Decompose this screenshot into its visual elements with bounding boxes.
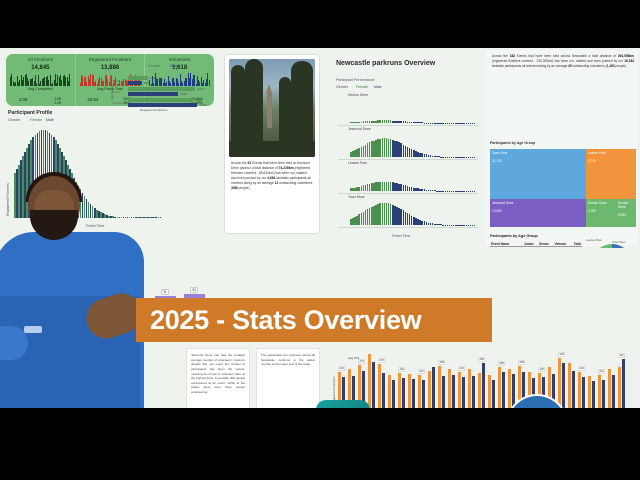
donut-name-1: Leazes Park bbox=[586, 238, 602, 242]
legend-right-female[interactable]: Female bbox=[148, 64, 160, 68]
treemap-tile-label: Denton Dene bbox=[586, 199, 616, 207]
newcastle-narrative: Across the 182 Events that have been hel… bbox=[492, 54, 634, 69]
bar-registered-finishers[interactable] bbox=[512, 374, 515, 408]
donut-label-town-moor: Town Moor bbox=[612, 240, 626, 244]
screenshot-stage: All Finishers 14,845 Avg Completed 2.09 … bbox=[0, 0, 640, 480]
age-bar-value: 845 bbox=[144, 81, 149, 85]
bar-registered-finishers[interactable] bbox=[392, 380, 395, 408]
small-multiple-label: Jesmond Dene bbox=[348, 127, 371, 131]
bar-registered-finishers[interactable] bbox=[592, 381, 595, 408]
average-line-label: Avg 273 bbox=[348, 356, 359, 360]
cap-e: people). bbox=[238, 186, 251, 190]
letterbox-bottom bbox=[0, 408, 640, 480]
small-mult-x-label: Finish Time bbox=[392, 234, 410, 238]
treemap-tile-value: 13,586 bbox=[490, 207, 586, 215]
bar-registered-finishers[interactable] bbox=[452, 375, 455, 408]
treemap-tile-value: 5,089 bbox=[616, 211, 636, 219]
age-chart-y-label: Age Group bbox=[110, 85, 114, 100]
bar-registered-finishers[interactable] bbox=[462, 377, 465, 408]
narr-e: people). bbox=[615, 64, 627, 68]
small-multiple-label: Town Moor bbox=[348, 195, 365, 199]
narr-participants: 16,182 bbox=[624, 59, 634, 63]
age-bar[interactable] bbox=[128, 98, 193, 102]
bar-value-label: 212 bbox=[598, 369, 605, 374]
bar-value-label: 232 bbox=[458, 366, 465, 371]
age-group-treemap: Town Moor31,182Leazes Park8,745Jesmond D… bbox=[490, 149, 636, 227]
legend-male[interactable]: Male bbox=[46, 118, 54, 122]
participant-performance-label: Participant Performance bbox=[336, 78, 375, 82]
cap-prefix: Across the bbox=[231, 161, 248, 165]
small-multiple-leazes-park: Leazes Park bbox=[338, 160, 478, 194]
treemap-tile[interactable]: Leazes Park8,745 bbox=[586, 149, 636, 199]
narr-d: outstanding volunteers ( bbox=[572, 64, 607, 68]
small-multiple-plot bbox=[350, 167, 474, 191]
narr-c: fantastic participants all cheered along… bbox=[492, 64, 568, 68]
banner-title: 2025 - Stats Overview bbox=[136, 305, 421, 336]
age-bar[interactable] bbox=[128, 103, 197, 107]
registered-vs-all-chart: 2322722762222122682322822582682263182322… bbox=[336, 340, 628, 408]
treemap-tile[interactable]: Town Moor31,182 bbox=[490, 149, 586, 199]
bottom-note-card-2: The participants per volunteer across al… bbox=[256, 348, 320, 408]
small-multiple-denton-dene: Denton Dene bbox=[338, 92, 478, 126]
narr-prefix: Across the bbox=[492, 54, 510, 58]
cap-distance: 74,225km bbox=[279, 166, 294, 170]
treemap-tile[interactable]: Denton Dene5,089 bbox=[616, 199, 636, 227]
bar-registered-finishers[interactable] bbox=[412, 379, 415, 408]
legend-female[interactable]: Female bbox=[30, 118, 42, 122]
newcastle-legend-male[interactable]: Male bbox=[374, 85, 382, 89]
small-multiple-town-moor: Town Moor bbox=[338, 194, 478, 228]
bar-value-label: 268 bbox=[518, 360, 525, 365]
age-bar-value: 3,044 bbox=[180, 92, 187, 96]
newcastle-title: Newcastle parkruns Overview bbox=[336, 60, 435, 67]
bottom-note-card-1: Jesmond Dene has had the smallest averag… bbox=[186, 348, 250, 408]
table-title: Participants by Age Group bbox=[490, 234, 538, 238]
bar-value-label: 272 bbox=[358, 359, 365, 364]
bar-value-label: 318 bbox=[558, 352, 565, 357]
age-row-label: Veteran bbox=[112, 101, 122, 105]
treemap-tile[interactable]: Denton Dene5,089 bbox=[586, 199, 616, 227]
power-bi-alt-icon[interactable] bbox=[316, 400, 370, 408]
newcastle-legend-female[interactable]: Female bbox=[356, 85, 368, 89]
letterbox-top bbox=[0, 0, 640, 48]
small-multiple-plot bbox=[350, 99, 474, 123]
bar-registered-finishers[interactable] bbox=[622, 359, 625, 408]
bar-registered-finishers[interactable] bbox=[432, 367, 435, 408]
age-bar-value: 4,217 bbox=[199, 103, 206, 107]
bar-registered-finishers[interactable] bbox=[582, 377, 585, 408]
bar-value-label: 226 bbox=[538, 367, 545, 372]
age-bar[interactable] bbox=[128, 87, 195, 91]
presenter-runner-photo bbox=[0, 176, 144, 408]
age-bar[interactable] bbox=[128, 92, 178, 96]
kpi-sparkline bbox=[10, 73, 71, 86]
small-multiple-jesmond-dene: Jesmond Dene bbox=[338, 126, 478, 160]
kpi-value: 13,886 bbox=[76, 62, 145, 71]
bar-registered-finishers[interactable] bbox=[572, 371, 575, 408]
age-bar-value: 4,072 bbox=[197, 87, 204, 91]
video-frame: All Finishers 14,845 Avg Completed 2.09 … bbox=[0, 48, 640, 408]
jesmond-photo-card: Across the 51 Events that have been held… bbox=[224, 54, 320, 234]
kpi-value: 14,845 bbox=[6, 62, 75, 71]
bar-registered-finishers[interactable] bbox=[472, 376, 475, 408]
treemap-tile-label: Town Moor bbox=[490, 149, 586, 157]
small-multiples-histograms: Denton DeneJesmond DeneLeazes ParkTown M… bbox=[338, 92, 478, 228]
narr-distance: 264,055km bbox=[618, 54, 634, 58]
bar-registered-finishers[interactable] bbox=[602, 380, 605, 408]
gender-legend-label: Gender bbox=[8, 118, 20, 122]
treemap-tile-value: 8,745 bbox=[586, 157, 636, 165]
bar-value-label: 282 bbox=[478, 357, 485, 362]
kpi-footer: 2.09 1.98 2.28 bbox=[6, 97, 75, 106]
legend-right-male[interactable]: Male bbox=[170, 64, 178, 68]
volunteer-bar-label: 31 bbox=[161, 289, 169, 295]
age-group-bar-chart: Junior1,224845Senior4,0723,044Veteran3,9… bbox=[112, 72, 208, 106]
age-bar-value: 3,946 bbox=[195, 98, 202, 102]
kpi-foot-main: 32:54 bbox=[76, 97, 110, 106]
bar-registered-finishers[interactable] bbox=[382, 373, 385, 408]
age-row-label: Junior bbox=[112, 79, 120, 83]
bar-value-label: 276 bbox=[378, 358, 385, 363]
bar-registered-finishers[interactable] bbox=[612, 375, 615, 408]
bar-registered-finishers[interactable] bbox=[492, 380, 495, 408]
bar-value-label: 212 bbox=[418, 369, 425, 374]
small-multiple-label: Denton Dene bbox=[348, 93, 368, 97]
donut-name-0: Town Moor bbox=[612, 240, 626, 244]
volunteer-bar-label: 33 bbox=[190, 287, 198, 293]
bar-registered-finishers[interactable] bbox=[422, 380, 425, 408]
kpi-subtitle: Avg Completed bbox=[6, 86, 75, 91]
kpi-title: Volunteers bbox=[145, 54, 214, 62]
bar-registered-finishers[interactable] bbox=[502, 372, 505, 408]
age-bar[interactable] bbox=[128, 76, 148, 80]
bar-registered-finishers[interactable] bbox=[402, 378, 405, 408]
treemap-tile-value: 31,182 bbox=[490, 157, 586, 165]
narr-a: Events that have been held across Newcas… bbox=[515, 54, 618, 58]
age-bar-value: 1,224 bbox=[150, 76, 157, 80]
bar-registered-finishers[interactable] bbox=[482, 363, 485, 408]
bar-registered-finishers[interactable] bbox=[562, 363, 565, 408]
bar-value-label: 232 bbox=[338, 366, 345, 371]
kpi-foot-main: 2.09 bbox=[6, 97, 40, 106]
treemap-tile-label: Jesmond Dene bbox=[490, 199, 586, 207]
bar-value-label: 268 bbox=[438, 360, 445, 365]
kpi-foot-b: 2.28 bbox=[40, 101, 74, 105]
treemap-tile-value: 5,089 bbox=[586, 207, 616, 215]
bar-value-label: 232 bbox=[578, 366, 585, 371]
bar-value-label: 222 bbox=[398, 367, 405, 372]
bar-value-label: 312 bbox=[618, 353, 625, 358]
title-banner: 2025 - Stats Overview bbox=[136, 298, 492, 342]
kpi-card-all-finishers[interactable]: All Finishers 14,845 Avg Completed 2.09 … bbox=[6, 54, 76, 106]
age-chart-x-label: Registered Finishers bbox=[140, 108, 168, 112]
treemap-tile[interactable]: Jesmond Dene13,586 bbox=[490, 199, 586, 227]
bar-registered-finishers[interactable] bbox=[442, 376, 445, 408]
cap-participants: 4,681 bbox=[267, 176, 275, 180]
kpi-title: Registered Finishers bbox=[76, 54, 145, 62]
treemap-tile-label: Denton Dene bbox=[616, 199, 636, 211]
small-multiple-plot bbox=[350, 201, 474, 225]
kpi-title: All Finishers bbox=[6, 54, 75, 62]
bar-value-label: 258 bbox=[498, 361, 505, 366]
age-bar[interactable] bbox=[128, 81, 142, 85]
narr-b: (registered finishers covered - 230,005k… bbox=[492, 59, 624, 63]
donut-label-leazes: Leazes Park bbox=[586, 238, 602, 242]
treemap-title: Participants by Age Group bbox=[490, 141, 535, 145]
small-multiple-label: Leazes Park bbox=[348, 161, 367, 165]
treemap-tile-label: Leazes Park bbox=[586, 149, 636, 157]
small-multiple-plot bbox=[350, 133, 474, 157]
newcastle-gender-label: Gender bbox=[336, 85, 348, 89]
bar-registered-finishers[interactable] bbox=[372, 362, 375, 408]
kpi-foot-secondary: 1.98 2.28 bbox=[40, 97, 74, 106]
participant-profile-title: Participant Profile bbox=[8, 110, 52, 116]
park-trees-photo bbox=[229, 59, 315, 157]
photo-card-caption: Across the 51 Events that have been held… bbox=[229, 157, 315, 191]
narr-vol-total: 1,163 bbox=[607, 64, 615, 68]
